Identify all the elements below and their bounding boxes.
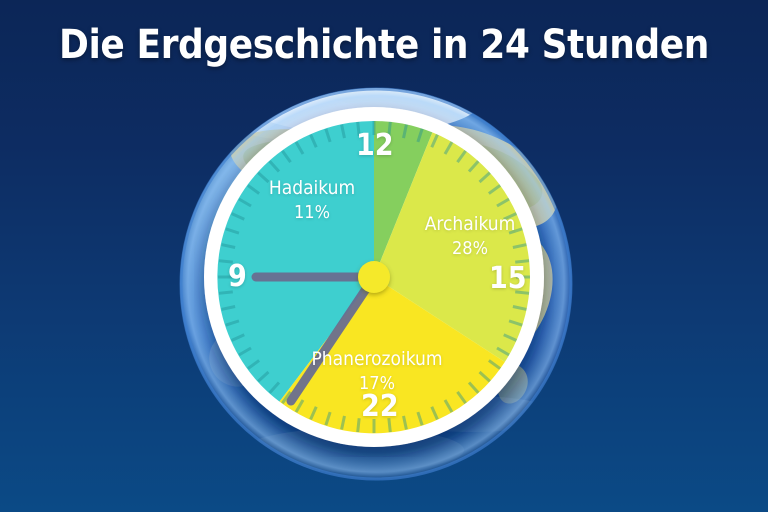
infographic-canvas: Die Erdgeschichte in 24 Stunden <box>0 0 768 512</box>
hour-marker-15: 15 <box>489 264 527 294</box>
hour-marker-22: 22 <box>361 392 399 422</box>
slice-label-archaikum: Archaikum 28% <box>380 213 560 260</box>
slice-label-hadaikum: Hadaikum 11% <box>222 177 402 224</box>
slice-percent-phanerozoikum: 17% <box>282 373 472 395</box>
slice-name-archaikum: Archaikum <box>380 213 560 236</box>
slice-percent-archaikum: 28% <box>380 238 560 260</box>
slice-name-phanerozoikum: Phanerozoikum <box>282 348 472 371</box>
slice-label-phanerozoikum: Phanerozoikum 17% <box>282 348 472 395</box>
slice-percent-hadaikum: 11% <box>222 202 402 224</box>
hour-marker-12: 12 <box>356 131 394 161</box>
hour-marker-9: 9 <box>228 262 247 292</box>
slice-name-hadaikum: Hadaikum <box>222 177 402 200</box>
center-hub <box>358 261 390 293</box>
page-title: Die Erdgeschichte in 24 Stunden <box>0 22 768 68</box>
